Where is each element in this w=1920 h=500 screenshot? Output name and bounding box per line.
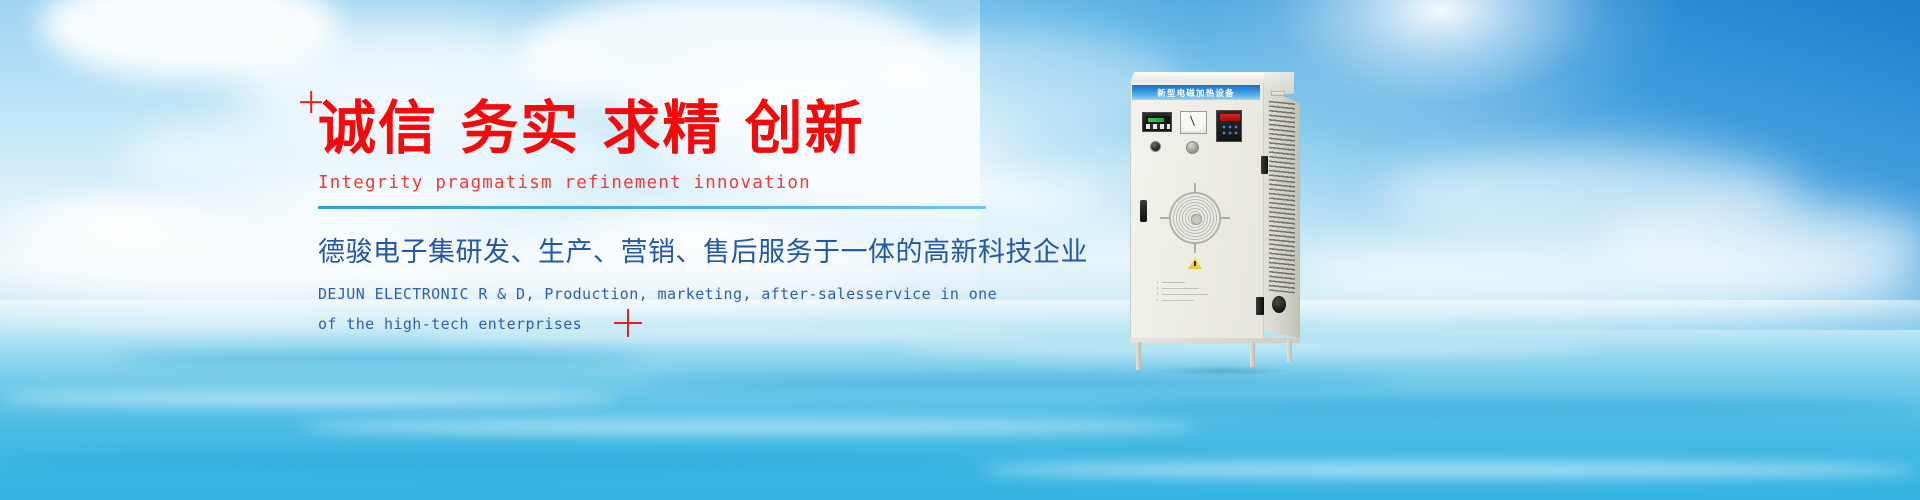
gauge-needle	[1189, 116, 1194, 127]
display-buttons	[1146, 124, 1170, 129]
machine-label-banner: 新型电磁加热设备	[1132, 85, 1260, 100]
rotary-knob	[1186, 141, 1199, 154]
cable-port-round	[1272, 296, 1286, 313]
subtitle-english-line1: DEJUN ELECTRONIC R & D, Production, mark…	[318, 281, 1018, 309]
keypad-led-display	[1220, 114, 1240, 121]
machine-vent-louvers	[1269, 101, 1295, 294]
machine-label-text: 新型电磁加热设备	[1157, 87, 1235, 99]
product-image-heating-machine: 新型电磁加热设备	[1124, 72, 1314, 372]
selector-knob	[1150, 141, 1161, 152]
sea-streak	[1100, 400, 1920, 416]
subtitle-english-line2: of the high-tech enterprises	[318, 311, 1018, 339]
door-latch	[1140, 200, 1147, 222]
cooling-fan-grille	[1169, 192, 1221, 244]
spec-label-plate	[1162, 280, 1226, 306]
display-screen	[1146, 116, 1170, 124]
gauge-face	[1183, 114, 1204, 131]
promo-banner: 诚信 务实 求精 创新 Integrity pragmatism refinem…	[0, 0, 1920, 500]
side-handle	[1261, 156, 1268, 174]
headline-english: Integrity pragmatism refinement innovati…	[318, 173, 1018, 193]
sea-streak	[0, 392, 620, 405]
sea-streak	[980, 462, 1920, 478]
machine-leg	[1287, 340, 1292, 362]
sea-streak	[300, 420, 1200, 434]
divider-rule	[318, 206, 986, 209]
sea-streak	[120, 352, 640, 364]
machine-base	[1130, 338, 1300, 343]
digital-display-unit	[1142, 112, 1172, 132]
machine-shadow	[1124, 364, 1320, 378]
headline-chinese: 诚信 务实 求精 创新	[318, 96, 1018, 161]
top-latch	[1271, 91, 1285, 96]
subtitle-chinese: 德骏电子集研发、生产、营销、售后服务于一体的高新科技企业	[318, 230, 1018, 269]
spec-label-bullets	[1156, 280, 1159, 306]
keypad-buttons	[1221, 125, 1239, 139]
control-keypad	[1216, 110, 1242, 142]
sea-streak	[0, 452, 980, 470]
banner-text-block: 诚信 务实 求精 创新 Integrity pragmatism refinem…	[318, 96, 1018, 338]
analog-gauge	[1180, 111, 1207, 134]
cable-port-rect	[1256, 297, 1264, 315]
